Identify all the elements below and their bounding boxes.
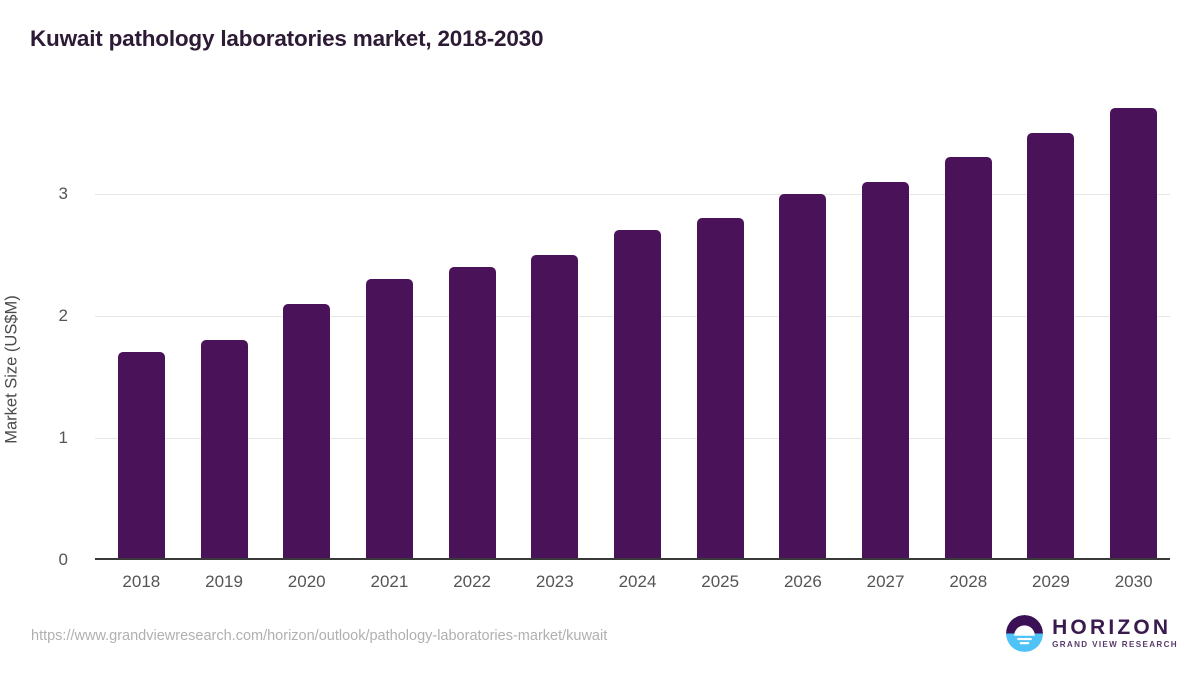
plot-area [95,90,1170,560]
source-url[interactable]: https://www.grandviewresearch.com/horizo… [31,628,607,644]
bar[interactable] [201,340,248,560]
x-axis-tick-label: 2018 [122,572,160,592]
bar[interactable] [862,182,909,560]
logo-text: HORIZON GRAND VIEW RESEARCH [1052,617,1178,649]
bar[interactable] [945,157,992,560]
x-axis-tick-label: 2025 [701,572,739,592]
bar[interactable] [697,218,744,560]
x-axis-tick-label: 2028 [949,572,987,592]
bar[interactable] [366,279,413,560]
x-axis-tick-label: 2029 [1032,572,1070,592]
gridline [95,194,1170,195]
x-axis-tick-label: 2030 [1115,572,1153,592]
bar[interactable] [779,194,826,560]
y-axis-title: Market Size (US$M) [3,140,22,600]
x-axis-tick-label: 2022 [453,572,491,592]
bar[interactable] [1027,133,1074,560]
bar[interactable] [1110,108,1157,560]
bar[interactable] [531,255,578,560]
horizon-sun-circle-icon [1006,615,1043,652]
bar[interactable] [283,304,330,560]
x-axis-tick-label: 2023 [536,572,574,592]
x-axis-tick-label: 2020 [288,572,326,592]
bar[interactable] [449,267,496,560]
x-axis-tick-label: 2021 [371,572,409,592]
x-axis-tick-label: 2027 [867,572,905,592]
bar[interactable] [614,230,661,560]
horizon-logo[interactable]: HORIZON GRAND VIEW RESEARCH [1006,615,1178,652]
x-axis-line [95,558,1170,560]
bar[interactable] [118,352,165,560]
x-axis-tick-label: 2024 [619,572,657,592]
x-axis-tick-label: 2026 [784,572,822,592]
logo-wordmark: HORIZON [1052,617,1178,638]
logo-tagline: GRAND VIEW RESEARCH [1052,641,1178,649]
chart-canvas: Kuwait pathology laboratories market, 20… [0,0,1200,675]
chart-title: Kuwait pathology laboratories market, 20… [30,26,543,52]
x-axis-tick-label: 2019 [205,572,243,592]
